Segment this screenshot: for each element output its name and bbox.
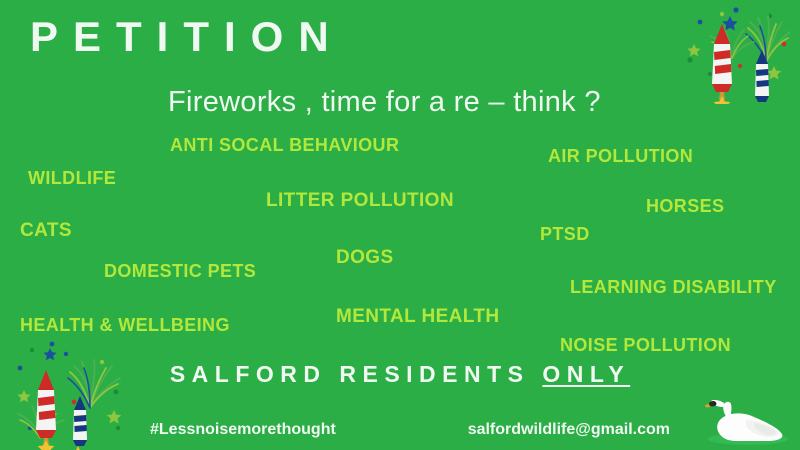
firework-rocket-red-icon [712, 24, 732, 104]
fireworks-sparkle-group [17, 342, 121, 431]
keyword-item: WILDLIFE [28, 168, 116, 189]
keyword-item: LITTER POLLUTION [266, 190, 454, 212]
keyword-item: AIR POLLUTION [548, 146, 693, 167]
fireworks-icon [670, 0, 798, 104]
hashtag-text: #Lessnoisemorethought [150, 421, 336, 439]
petition-poster: PETITION Fireworks , time for a re – thi… [0, 0, 800, 450]
firework-burst-icon [746, 16, 790, 62]
footer: #Lessnoisemorethought salfordwildlife@gm… [150, 421, 670, 439]
keyword-item: LEARNING DISABILITY [570, 277, 777, 298]
contact-email[interactable]: salfordwildlife@gmail.com [468, 421, 670, 439]
keyword-item: HORSES [646, 196, 724, 217]
keyword-item: DOGS [336, 247, 394, 269]
residents-notice-emphasis: ONLY [542, 361, 630, 387]
residents-notice-prefix: SALFORD RESIDENTS [170, 361, 543, 387]
firework-rocket-red-icon [36, 370, 56, 450]
keyword-item: PTSD [540, 224, 590, 245]
keyword-item: ANTI SOCAL BEHAVIOUR [170, 135, 399, 156]
keyword-item: MENTAL HEALTH [336, 306, 500, 328]
keyword-item: NOISE POLLUTION [560, 335, 731, 356]
swan-icon [698, 396, 794, 448]
poster-subtitle: Fireworks , time for a re – think ? [168, 86, 601, 119]
keyword-item: DOMESTIC PETS [104, 261, 256, 282]
fireworks-icon [4, 332, 132, 450]
keyword-item: CATS [20, 220, 72, 242]
page-title: PETITION [30, 14, 344, 60]
